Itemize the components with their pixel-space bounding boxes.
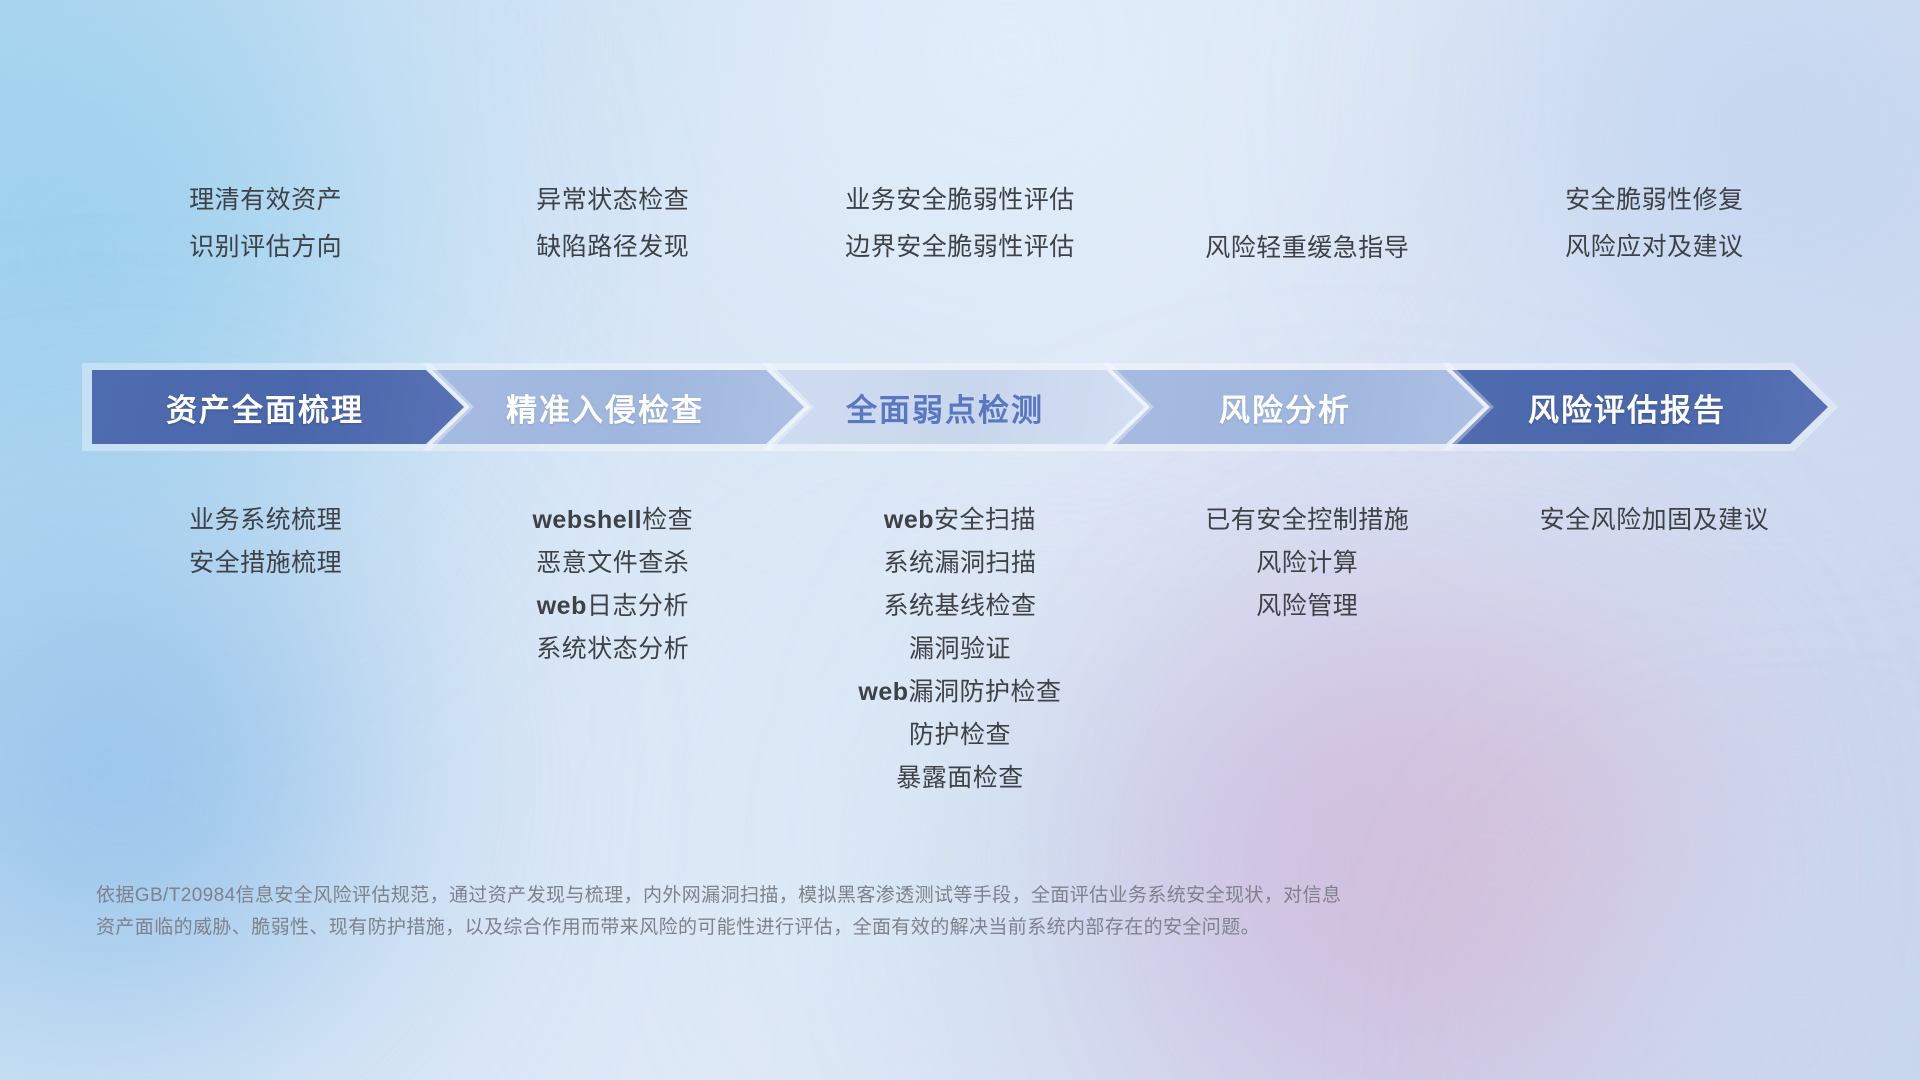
footer-line-2: 资产面临的威胁、脆弱性、现有防护措施，以及综合作用而带来风险的可能性进行评估，全… — [96, 912, 1736, 944]
bottom-activities-row: 业务系统梳理 安全措施梳理 webshell检查 恶意文件查杀 web日志分析 … — [92, 508, 1828, 791]
list-item: 暴露面检查 — [896, 766, 1024, 791]
top-item: 异常状态检查 — [536, 188, 689, 213]
list-item-text: 系统状态分析 — [536, 635, 689, 663]
infographic-canvas: 理清有效资产 识别评估方向 异常状态检查 缺陷路径发现 业务安全脆弱性评估 边界… — [0, 0, 1920, 1080]
list-item-text: 检查 — [642, 506, 693, 534]
top-item: 缺陷路径发现 — [536, 235, 689, 260]
list-item: 系统状态分析 — [536, 637, 689, 662]
list-item: 系统漏洞扫描 — [883, 551, 1036, 576]
list-item: 业务系统梳理 — [189, 508, 342, 533]
top-cell-step-1: 理清有效资产 识别评估方向 — [92, 180, 439, 260]
list-item: webshell检查 — [532, 508, 693, 533]
footer-line-1: 依据GB/T20984信息安全风险评估规范，通过资产发现与梳理，内外网漏洞扫描，… — [96, 880, 1736, 912]
top-cell-step-3: 业务安全脆弱性评估 边界安全脆弱性评估 — [786, 180, 1133, 260]
process-step-1[interactable]: 资产全面梳理 — [92, 370, 464, 444]
process-step-5[interactable]: 风险评估报告 — [1452, 370, 1828, 444]
bottom-cell-step-4: 已有安全控制措施 风险计算 风险管理 — [1134, 508, 1481, 791]
list-item-prefix: web — [884, 506, 934, 534]
list-item: 风险计算 — [1256, 551, 1358, 576]
list-item: 系统基线检查 — [883, 594, 1036, 619]
list-item: 安全措施梳理 — [189, 551, 342, 576]
process-step-label: 资产全面梳理 — [166, 385, 364, 430]
process-step-label: 全面弱点检测 — [846, 385, 1044, 430]
list-item-text: 风险计算 — [1256, 549, 1358, 577]
list-item-text: 漏洞防护检查 — [909, 678, 1062, 706]
bottom-cell-step-5: 安全风险加固及建议 — [1481, 508, 1828, 791]
bottom-cell-step-3: web安全扫描 系统漏洞扫描 系统基线检查 漏洞验证 web漏洞防护检查 防护检… — [786, 508, 1133, 791]
process-step-label: 精准入侵检查 — [506, 385, 704, 430]
bottom-cell-step-1: 业务系统梳理 安全措施梳理 — [92, 508, 439, 791]
list-item: 恶意文件查杀 — [536, 551, 689, 576]
list-item-prefix: web — [858, 678, 908, 706]
top-outcomes-row: 理清有效资产 识别评估方向 异常状态检查 缺陷路径发现 业务安全脆弱性评估 边界… — [92, 180, 1828, 340]
process-step-label: 风险分析 — [1219, 385, 1351, 430]
list-item-text: 系统基线检查 — [883, 592, 1036, 620]
process-step-4[interactable]: 风险分析 — [1112, 370, 1484, 444]
list-item-text: 日志分析 — [587, 592, 689, 620]
list-item: 防护检查 — [909, 723, 1011, 748]
top-cell-step-2: 异常状态检查 缺陷路径发现 — [439, 180, 786, 260]
top-item: 理清有效资产 — [189, 188, 342, 213]
list-item-prefix: webshell — [532, 506, 642, 534]
process-step-2[interactable]: 精准入侵检查 — [432, 370, 804, 444]
list-item-text: 风险管理 — [1256, 592, 1358, 620]
list-item: web漏洞防护检查 — [858, 680, 1061, 705]
top-item: 安全脆弱性修复 — [1565, 188, 1744, 213]
footer-description: 依据GB/T20984信息安全风险评估规范，通过资产发现与梳理，内外网漏洞扫描，… — [96, 880, 1736, 944]
top-item: 边界安全脆弱性评估 — [845, 235, 1075, 260]
list-item-text: 暴露面检查 — [896, 764, 1024, 792]
bottom-cell-step-2: webshell检查 恶意文件查杀 web日志分析 系统状态分析 — [439, 508, 786, 791]
process-step-3[interactable]: 全面弱点检测 — [772, 370, 1144, 444]
list-item: 风险管理 — [1256, 594, 1358, 619]
list-item-text: 防护检查 — [909, 721, 1011, 749]
list-item-text: 系统漏洞扫描 — [883, 549, 1036, 577]
list-item-text: 安全措施梳理 — [189, 549, 342, 577]
list-item: 安全风险加固及建议 — [1540, 508, 1770, 533]
top-item: 风险轻重缓急指导 — [1205, 236, 1409, 261]
list-item: web日志分析 — [537, 594, 689, 619]
top-cell-step-4: 风险轻重缓急指导 — [1134, 180, 1481, 261]
process-arrow-band: 资产全面梳理 精准入侵检查 全面弱点检测 风险分析 风险评估报告 — [92, 370, 1828, 444]
top-item: 业务安全脆弱性评估 — [845, 188, 1075, 213]
list-item-text: 漏洞验证 — [909, 635, 1011, 663]
list-item-text: 安全风险加固及建议 — [1540, 506, 1770, 534]
top-item: 风险应对及建议 — [1565, 235, 1744, 260]
list-item-text: 业务系统梳理 — [189, 506, 342, 534]
top-cell-step-5: 安全脆弱性修复 风险应对及建议 — [1481, 180, 1828, 260]
list-item: 漏洞验证 — [909, 637, 1011, 662]
list-item-text: 恶意文件查杀 — [536, 549, 689, 577]
top-item: 识别评估方向 — [189, 235, 342, 260]
list-item: 已有安全控制措施 — [1205, 508, 1409, 533]
list-item-text: 已有安全控制措施 — [1205, 506, 1409, 534]
blob-blue-bottomright — [1500, 840, 1920, 1080]
list-item: web安全扫描 — [884, 508, 1036, 533]
list-item-text: 安全扫描 — [934, 506, 1036, 534]
list-item-prefix: web — [537, 592, 587, 620]
process-step-label: 风险评估报告 — [1528, 385, 1726, 430]
